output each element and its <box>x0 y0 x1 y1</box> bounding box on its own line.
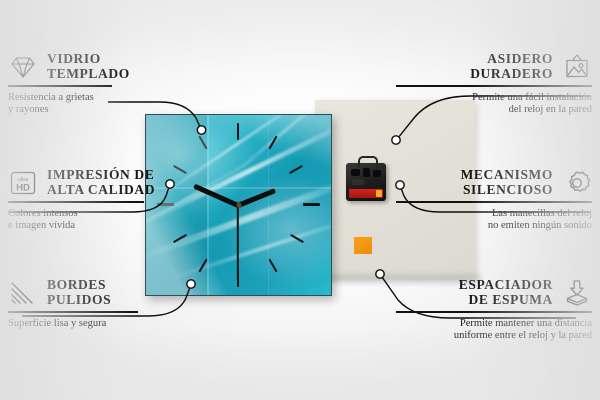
clock-pivot <box>236 203 241 208</box>
second-hand <box>237 205 239 280</box>
feature-divider <box>8 201 144 203</box>
ultra-hd-large-text: HD <box>16 182 30 193</box>
feature-desc-line2: del reloj en la pared <box>392 104 592 117</box>
feature-title-line2: SILENCIOSO <box>461 183 553 198</box>
feature-desc-line2: uniforme entre el reloj y la pared <box>392 330 592 343</box>
feature-bordes-pulidos[interactable]: BORDES PULIDOS Superficie lisa y segura <box>8 278 208 330</box>
feature-divider <box>396 311 592 313</box>
feature-vidrio-templado[interactable]: VIDRIO TEMPLADO Resistencia a grietas y … <box>8 52 208 117</box>
feature-title-line2: PULIDOS <box>47 293 111 308</box>
polished-edge-icon <box>8 279 38 307</box>
feature-title-line1: ASIDERO <box>470 52 553 67</box>
arrow-onto-layers-icon <box>562 279 592 307</box>
feature-title-line2: ALTA CALIDAD <box>47 183 155 198</box>
tick-2 <box>289 165 303 174</box>
glass-mullion <box>268 115 269 295</box>
mechanism-knob <box>351 169 360 176</box>
mechanism-knob <box>373 170 381 177</box>
framed-picture-hanger-icon <box>562 53 592 81</box>
mechanism-hanger-hook <box>358 156 378 167</box>
feature-title-line1: ESPACIADOR <box>459 278 553 293</box>
feature-divider <box>396 201 592 203</box>
feature-desc-line1: Resistencia a grietas <box>8 92 208 105</box>
feature-asidero-duradero[interactable]: ASIDERO DURADERO Permite una fácil insta… <box>392 52 592 117</box>
feature-desc-line1: Permite una fácil instalación <box>392 92 592 105</box>
feature-title-line1: VIDRIO <box>47 52 130 67</box>
mechanism-knob <box>352 179 364 185</box>
tick-12 <box>237 123 239 140</box>
feature-title-line1: IMPRESIÓN DE <box>47 168 155 183</box>
feature-desc-line2: y rayones <box>8 104 208 117</box>
feature-impresion-alta-calidad[interactable]: ultra HD IMPRESIÓN DE ALTA CALIDAD Color… <box>8 168 208 233</box>
ultra-hd-icon: ultra HD <box>8 169 38 197</box>
feature-desc-line1: Colores intensos <box>8 208 208 221</box>
mechanism-knob <box>363 168 370 177</box>
feature-divider <box>8 311 138 313</box>
feature-desc-line2: no emiten ningún sonido <box>392 220 592 233</box>
feature-title-line1: BORDES <box>47 278 111 293</box>
feature-title-line2: DURADERO <box>470 67 553 82</box>
aa-battery <box>349 189 383 198</box>
feature-desc-line2: e imagen vívida <box>8 220 208 233</box>
infographic-canvas: VIDRIO TEMPLADO Resistencia a grietas y … <box>0 0 600 400</box>
tick-3 <box>303 203 320 206</box>
feature-mecanismo-silencioso[interactable]: MECANISMO SILENCIOSO Las manecillas del … <box>392 168 592 233</box>
tick-5 <box>268 259 277 273</box>
feature-title-line1: MECANISMO <box>461 168 553 183</box>
feature-divider <box>8 85 112 87</box>
feature-title-line2: DE ESPUMA <box>459 293 553 308</box>
foam-spacer <box>354 237 372 254</box>
clock-mechanism <box>346 163 386 201</box>
gear-icon <box>562 169 592 197</box>
feature-desc-line1: Permite mantener una distancia <box>392 318 592 331</box>
feature-divider <box>396 85 592 87</box>
feature-title-line2: TEMPLADO <box>47 67 130 82</box>
feature-espaciador-espuma[interactable]: ESPACIADOR DE ESPUMA Permite mantener un… <box>392 278 592 343</box>
hour-hand <box>237 188 276 208</box>
feature-desc-line1: Las manecillas del reloj <box>392 208 592 221</box>
feature-desc-line1: Superficie lisa y segura <box>8 318 208 331</box>
diamond-icon <box>8 53 38 81</box>
